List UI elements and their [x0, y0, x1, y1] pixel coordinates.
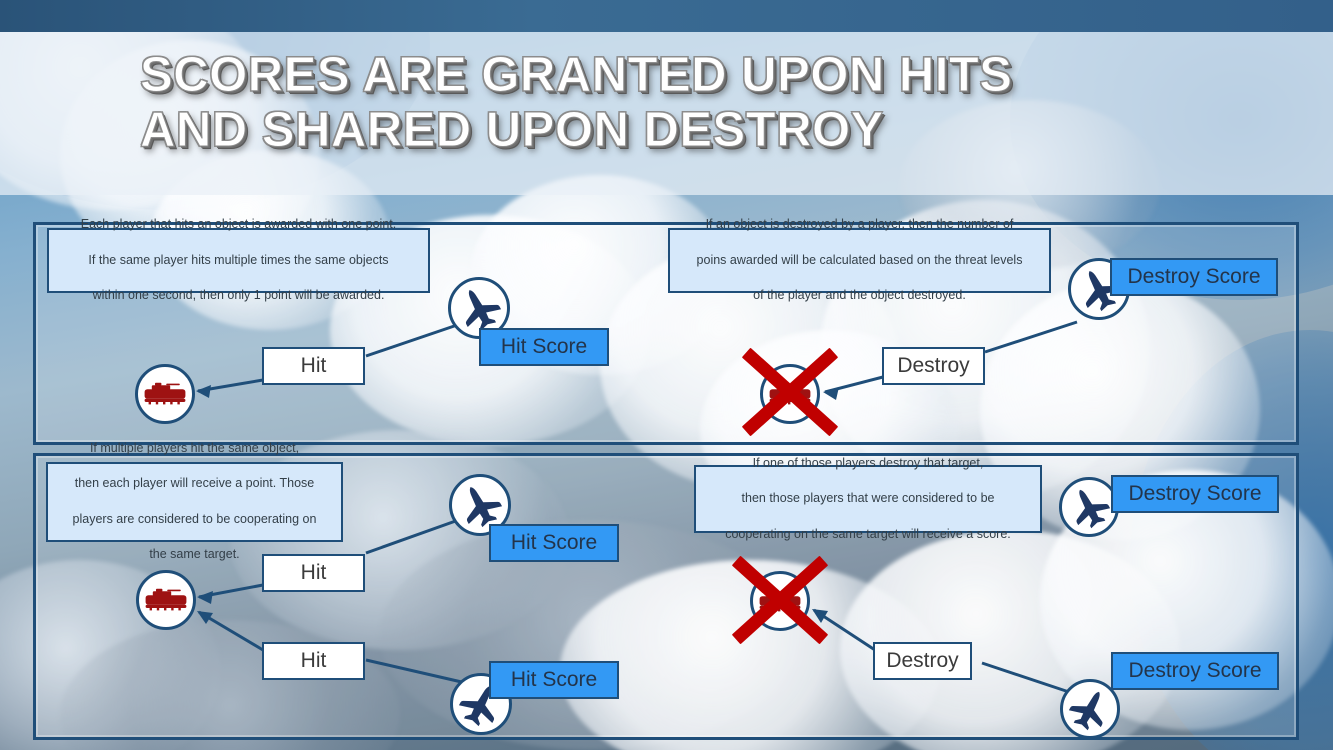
score-box-hit-score: Hit Score: [489, 524, 619, 562]
red-x-icon: [728, 330, 852, 454]
info-line: If the same player hits multiple times t…: [56, 252, 421, 270]
score-box-destroy-score: Destroy Score: [1110, 258, 1278, 296]
jet-icon: [457, 482, 503, 528]
action-label: Hit: [301, 649, 327, 673]
info-box-hit-rule: Each player that hits an object is award…: [47, 228, 430, 293]
score-label: Destroy Score: [1128, 659, 1261, 683]
info-line: of the player and the object destroyed.: [677, 287, 1042, 305]
info-line: If multiple players hit the same object,: [55, 440, 334, 458]
label-box-destroy: Destroy: [882, 347, 985, 385]
line-jet2-to-destroy: [982, 663, 1072, 693]
action-label: Hit: [301, 561, 327, 585]
score-label: Destroy Score: [1128, 482, 1261, 506]
info-line: Each player that hits an object is award…: [56, 216, 421, 234]
info-box-coop-destroy-rule: If one of those players destroy that tar…: [694, 465, 1042, 533]
score-box-destroy-score: Destroy Score: [1111, 475, 1279, 513]
info-line: If one of those players destroy that tar…: [703, 455, 1033, 473]
action-label: Destroy: [897, 354, 969, 378]
score-box-hit-score: Hit Score: [479, 328, 609, 366]
score-label: Hit Score: [511, 668, 597, 692]
score-label: Destroy Score: [1127, 265, 1260, 289]
info-line: then those players that were considered …: [703, 490, 1033, 508]
target-tank-icon-circle: [135, 364, 195, 424]
label-box-hit: Hit: [262, 347, 365, 385]
score-label: Hit Score: [501, 335, 587, 359]
info-line: If an object is destroyed by a player, t…: [677, 216, 1042, 234]
info-line: then each player will receive a point. T…: [55, 475, 334, 493]
info-line: within one second, then only 1 point wil…: [56, 287, 421, 305]
label-box-hit: Hit: [262, 554, 365, 592]
jet-icon: [1067, 485, 1111, 529]
target-tank-icon-circle: [136, 570, 196, 630]
jet-icon: [456, 285, 502, 331]
action-label: Hit: [301, 354, 327, 378]
info-line: players are considered to be cooperating…: [55, 511, 334, 529]
connector-coop-destroy-right: [0, 0, 1333, 750]
info-box-multi-hit-rule: If multiple players hit the same object,…: [46, 462, 343, 542]
action-label: Destroy: [886, 649, 958, 673]
label-box-hit: Hit: [262, 642, 365, 680]
info-box-destroy-rule: If an object is destroyed by a player, t…: [668, 228, 1051, 293]
score-box-hit-score: Hit Score: [489, 661, 619, 699]
tank-icon: [144, 585, 188, 615]
red-x-icon: [718, 538, 842, 662]
jet-icon: [1068, 687, 1112, 731]
tank-icon: [143, 379, 187, 409]
score-label: Hit Score: [511, 531, 597, 555]
score-box-destroy-score: Destroy Score: [1111, 652, 1279, 690]
info-line: poins awarded will be calculated based o…: [677, 252, 1042, 270]
player-jet-icon-circle: [1059, 477, 1119, 537]
label-box-destroy: Destroy: [873, 642, 972, 680]
